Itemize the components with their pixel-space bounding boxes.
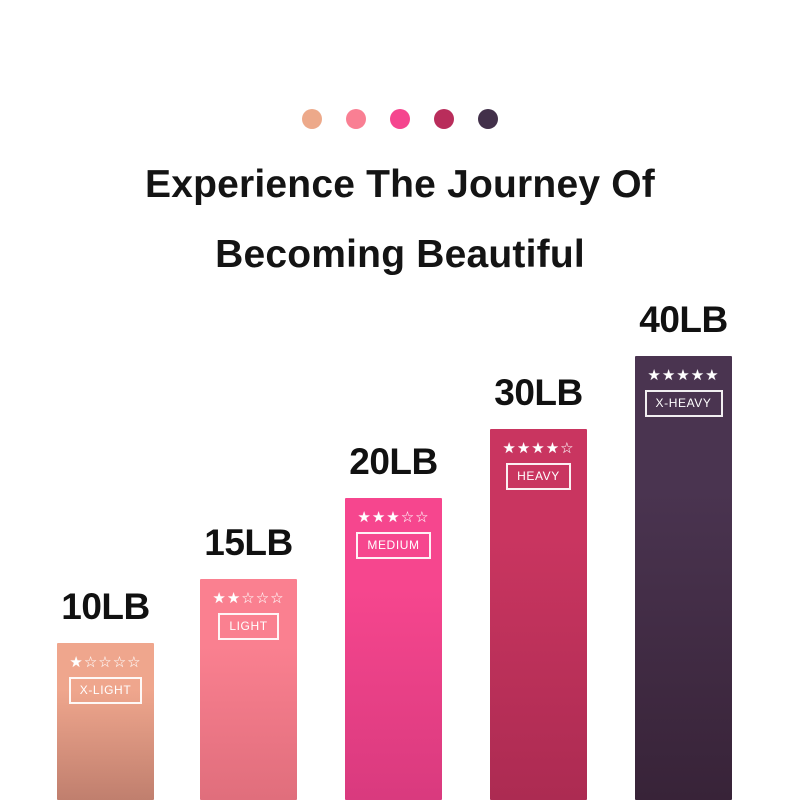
poster-canvas: Experience The Journey Of Becoming Beaut… xyxy=(0,0,800,800)
bar-badge-10lb: ★☆☆☆☆X-LIGHT xyxy=(57,655,154,704)
star-rating-icon: ★★☆☆☆ xyxy=(212,591,284,607)
bar-badge-15lb: ★★☆☆☆LIGHT xyxy=(200,591,297,640)
resistance-band-bar-chart: ★☆☆☆☆X-LIGHT10LB★★☆☆☆LIGHT15LB★★★☆☆MEDIU… xyxy=(0,0,800,800)
weight-label-40lb: 40LB xyxy=(639,301,727,338)
star-rating-icon: ★☆☆☆☆ xyxy=(69,655,141,671)
bar-badge-40lb: ★★★★★X-HEAVY xyxy=(635,368,732,417)
bar-badge-20lb: ★★★☆☆MEDIUM xyxy=(345,510,442,559)
tier-label: X-HEAVY xyxy=(645,390,723,417)
weight-label-15lb: 15LB xyxy=(204,524,292,561)
bar-group-15lb[interactable]: ★★☆☆☆LIGHT xyxy=(200,579,297,800)
bar-group-40lb[interactable]: ★★★★★X-HEAVY xyxy=(635,356,732,800)
star-rating-icon: ★★★★☆ xyxy=(502,441,574,457)
tier-label: X-LIGHT xyxy=(69,677,143,704)
weight-label-30lb: 30LB xyxy=(494,374,582,411)
bar-40lb[interactable] xyxy=(635,356,732,800)
star-rating-icon: ★★★★★ xyxy=(647,368,719,384)
weight-label-20lb: 20LB xyxy=(349,443,437,480)
tier-label: LIGHT xyxy=(218,613,278,640)
tier-label: HEAVY xyxy=(506,463,571,490)
bar-group-20lb[interactable]: ★★★☆☆MEDIUM xyxy=(345,498,442,800)
bar-badge-30lb: ★★★★☆HEAVY xyxy=(490,441,587,490)
bar-group-30lb[interactable]: ★★★★☆HEAVY xyxy=(490,429,587,800)
star-rating-icon: ★★★☆☆ xyxy=(357,510,429,526)
tier-label: MEDIUM xyxy=(356,532,430,559)
bar-group-10lb[interactable]: ★☆☆☆☆X-LIGHT xyxy=(57,643,154,800)
weight-label-10lb: 10LB xyxy=(61,588,149,625)
